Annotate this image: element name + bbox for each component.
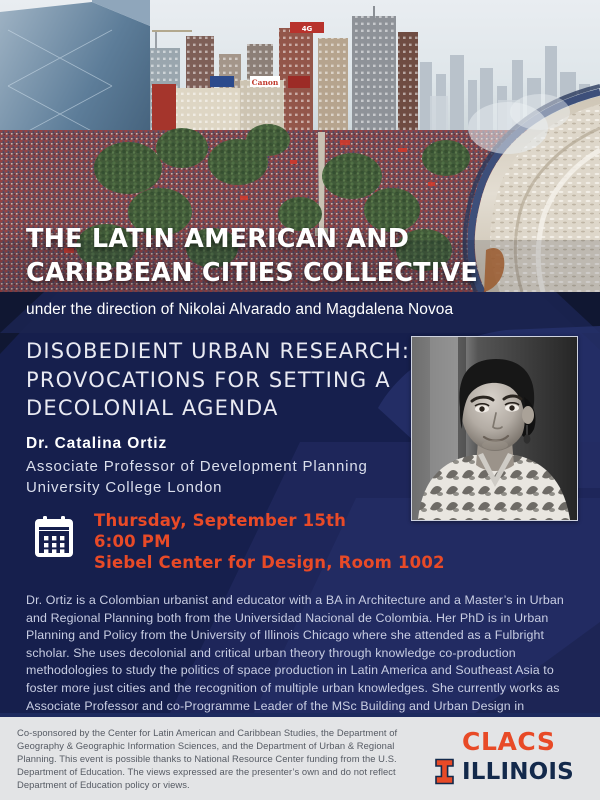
speaker-block: Dr. Catalina Ortiz Associate Professor o… [26,435,368,498]
event-text: Thursday, September 15th 6:00 PM Siebel … [94,510,445,573]
clacs-logo-text: CLACS [434,728,584,755]
organization-title: THE LATIN AMERICAN AND CARIBBEAN CITIES … [26,222,586,290]
event-poster: 4G Canon [0,0,600,800]
speaker-institution: University College London [26,477,368,498]
speaker-role: Associate Professor of Development Plann… [26,456,368,477]
talk-title-line-2: PROVOCATIONS FOR SETTING A [26,366,406,395]
direction-subtitle: under the direction of Nikolai Alvarado … [26,301,453,319]
talk-title-line-1: DISOBEDIENT URBAN RESEARCH: [26,337,406,366]
speaker-bio: Dr. Ortiz is a Colombian urbanist and ed… [26,592,578,717]
speaker-bio-text: Dr. Ortiz is a Colombian urbanist and ed… [26,592,578,717]
event-date: Thursday, September 15th [94,510,445,531]
illinois-logo: ILLINOIS [434,758,584,785]
organization-title-line-1: THE LATIN AMERICAN AND [26,222,586,256]
poster-footer: Co-sponsored by the Center for Latin Ame… [0,717,600,800]
event-location: Siebel Center for Design, Room 1002 [94,552,445,573]
svg-text:4G: 4G [302,25,313,33]
talk-title-line-3: DECOLONIAL AGENDA [26,394,406,423]
svg-text:Canon: Canon [252,78,279,87]
footer-disclaimer: Co-sponsored by the Center for Latin Ame… [17,726,432,791]
block-i-icon [434,758,455,785]
organization-title-line-2: CARIBBEAN CITIES COLLECTIVE [26,256,586,290]
speaker-portrait [411,336,578,521]
event-time: 6:00 PM [94,531,445,552]
talk-title: DISOBEDIENT URBAN RESEARCH: PROVOCATIONS… [26,337,406,423]
sponsor-logos: CLACS ILLINOIS [434,728,584,785]
calendar-icon [30,514,78,562]
speaker-name: Dr. Catalina Ortiz [26,435,368,453]
illinois-logo-text: ILLINOIS [462,760,574,784]
direction-subtitle-band: under the direction of Nikolai Alvarado … [0,292,600,332]
event-details: Thursday, September 15th 6:00 PM Siebel … [30,510,445,573]
